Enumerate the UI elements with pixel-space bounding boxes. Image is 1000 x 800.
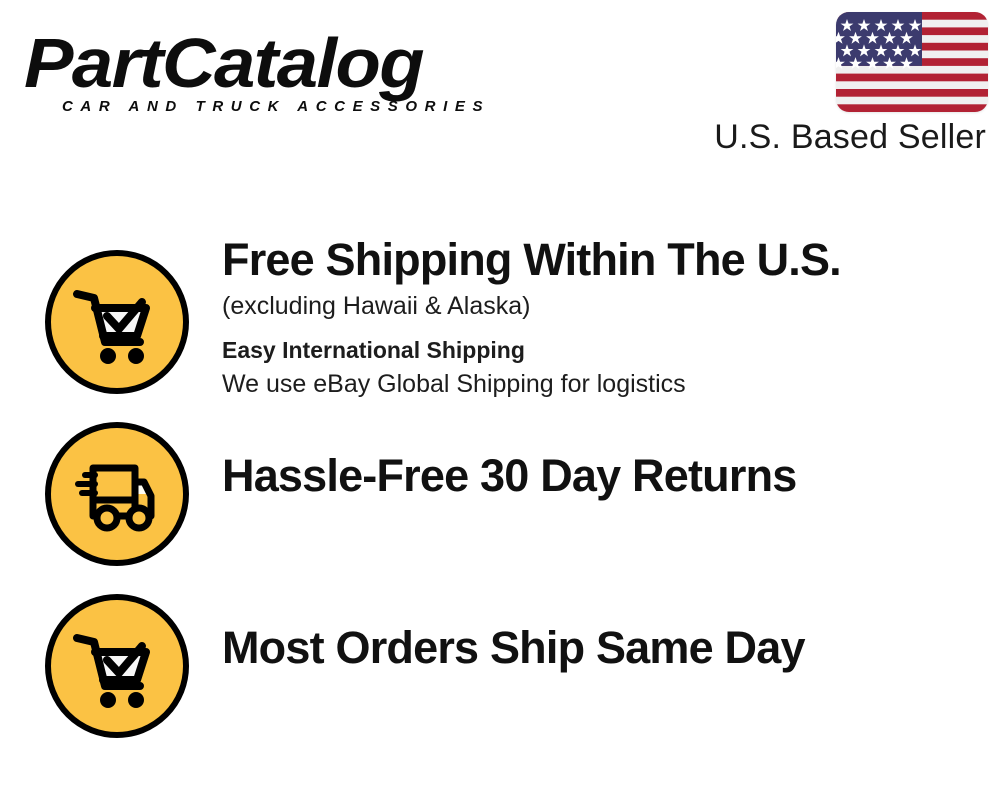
us-based-seller-label: U.S. Based Seller bbox=[714, 118, 986, 156]
feature-subnote: (excluding Hawaii & Alaska) bbox=[222, 289, 984, 323]
feature-text-block: Most Orders Ship Same Day bbox=[222, 622, 984, 674]
logo-wordmark: PartCatalog bbox=[24, 26, 522, 100]
feature-row: Free Shipping Within The U.S. (excluding… bbox=[0, 230, 1000, 402]
banner-header: PartCatalog CAR AND TRUCK ACCESSORIES bbox=[0, 0, 1000, 175]
feature-sub-detail: We use eBay Global Shipping for logistic… bbox=[222, 367, 984, 401]
feature-text-block: Hassle-Free 30 Day Returns bbox=[222, 450, 984, 502]
feature-row: Most Orders Ship Same Day bbox=[0, 574, 1000, 746]
feature-list: Free Shipping Within The U.S. (excluding… bbox=[0, 230, 1000, 746]
brand-logo: PartCatalog CAR AND TRUCK ACCESSORIES bbox=[24, 26, 494, 118]
delivery-truck-icon bbox=[45, 422, 189, 566]
feature-row: Hassle-Free 30 Day Returns bbox=[0, 402, 1000, 574]
feature-heading: Hassle-Free 30 Day Returns bbox=[222, 450, 984, 502]
feature-heading: Most Orders Ship Same Day bbox=[222, 622, 984, 674]
shopping-cart-check-icon bbox=[45, 250, 189, 394]
feature-heading: Free Shipping Within The U.S. bbox=[222, 234, 984, 286]
logo-tagline: CAR AND TRUCK ACCESSORIES bbox=[62, 98, 490, 115]
us-flag-icon bbox=[836, 12, 988, 112]
shopping-cart-check-icon bbox=[45, 594, 189, 738]
feature-sub-bold: Easy International Shipping bbox=[222, 334, 984, 367]
feature-text-block: Free Shipping Within The U.S. (excluding… bbox=[222, 234, 984, 401]
promo-banner: PartCatalog CAR AND TRUCK ACCESSORIES bbox=[0, 0, 1000, 800]
